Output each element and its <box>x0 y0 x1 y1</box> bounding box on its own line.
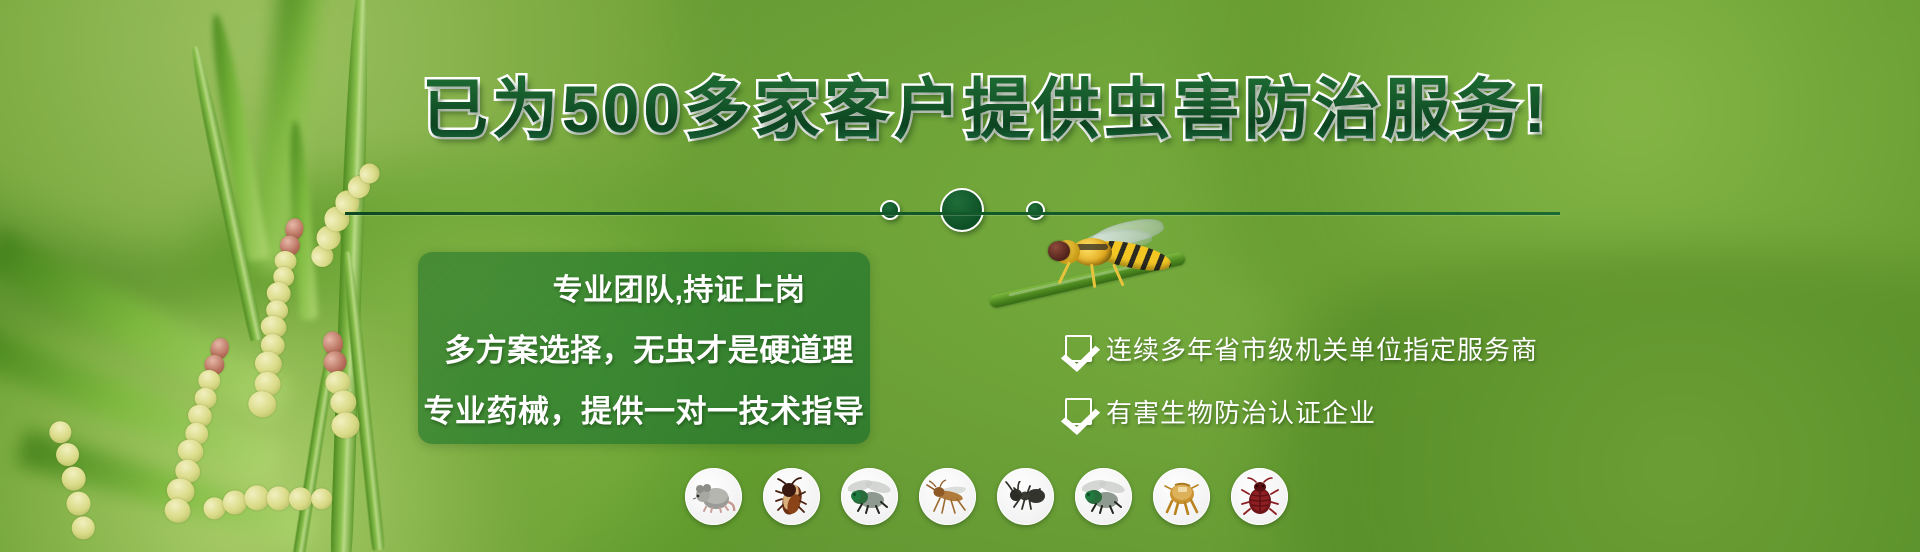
ant-icon <box>997 468 1054 525</box>
dot-small-left <box>880 200 900 220</box>
pest-icon-cockroach[interactable] <box>763 468 820 525</box>
dot-large-center <box>940 188 984 232</box>
divider <box>345 212 1560 215</box>
fly-icon <box>841 468 898 525</box>
pest-icon-bedbug[interactable] <box>1231 468 1288 525</box>
checkmark-icon <box>1065 335 1092 362</box>
headline-group: 已为500多家客户提供虫害防治服务! 已为500多家客户提供虫害防治服务! <box>0 0 1920 120</box>
pest-control-hero-banner: 已为500多家客户提供虫害防治服务! 已为500多家客户提供虫害防治服务! 专业… <box>0 0 1920 552</box>
mosquito-icon <box>919 468 976 525</box>
pest-icon-row <box>685 468 1288 525</box>
pest-icon-flea[interactable] <box>1153 468 1210 525</box>
pest-icon-ant[interactable] <box>997 468 1054 525</box>
slogan-line-2: 多方案选择，无虫才是硬道理 <box>418 325 870 370</box>
list-item: 有害生物防治认证企业 <box>1065 393 1538 430</box>
pest-icon-fly[interactable] <box>841 468 898 525</box>
hoverfly-illustration <box>1010 222 1240 332</box>
page-headline: 已为500多家客户提供虫害防治服务! <box>0 76 1920 142</box>
slogan-line-1: 专业团队,持证上岗 <box>418 265 870 309</box>
credential-text: 连续多年省市级机关单位指定服务商 <box>1106 330 1538 367</box>
slogan-panel: 专业团队,持证上岗 多方案选择，无虫才是硬道理 专业药械，提供一对一技术指导 <box>418 252 870 444</box>
hoverfly-icon <box>1046 226 1176 292</box>
dot-small-right <box>1026 201 1045 220</box>
cockroach-icon <box>763 468 820 525</box>
pest-icon-housefly[interactable] <box>1075 468 1132 525</box>
credentials-list: 连续多年省市级机关单位指定服务商 有害生物防治认证企业 <box>1065 330 1538 456</box>
list-item: 连续多年省市级机关单位指定服务商 <box>1065 330 1538 367</box>
flea-icon <box>1153 468 1210 525</box>
checkmark-icon <box>1065 398 1092 425</box>
bedbug-icon <box>1231 468 1288 525</box>
pest-icon-rodent[interactable] <box>685 468 742 525</box>
credential-text: 有害生物防治认证企业 <box>1106 393 1376 430</box>
slogan-line-3: 专业药械，提供一对一技术指导 <box>418 386 870 431</box>
housefly-icon <box>1075 468 1132 525</box>
pest-icon-mosquito[interactable] <box>919 468 976 525</box>
rodent-icon <box>685 468 742 525</box>
